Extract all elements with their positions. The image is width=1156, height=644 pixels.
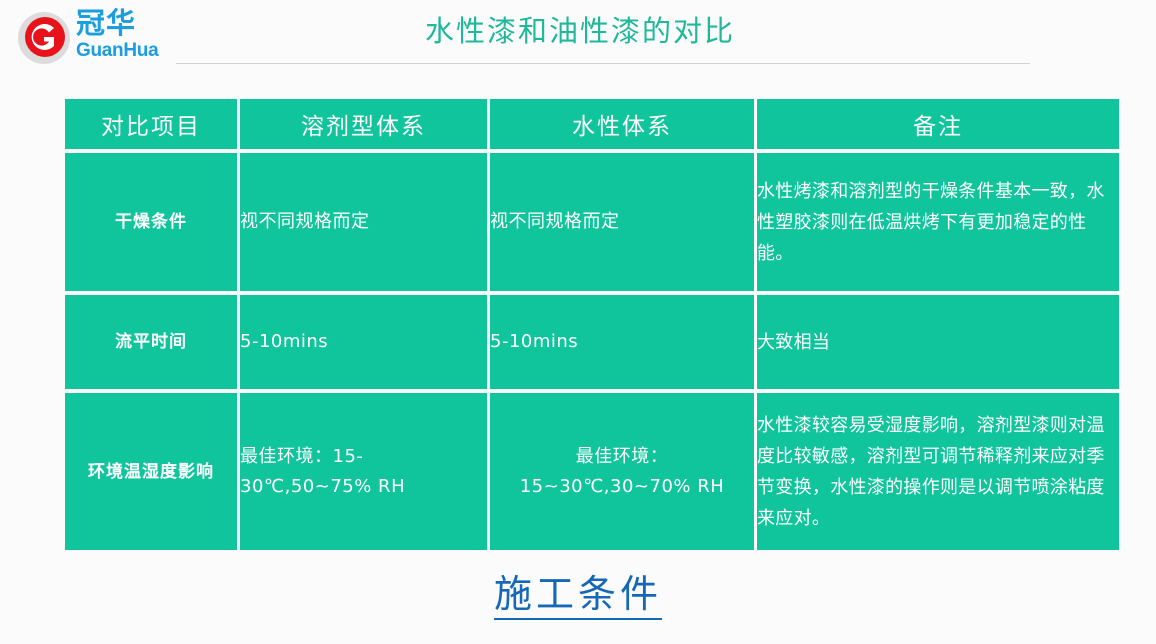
cell-note-environment: 水性漆较容易受湿度影响，溶剂型漆则对温度比较敏感，溶剂型可调节稀释剂来应对季节变… [757, 393, 1119, 550]
cell-note-leveling: 大致相当 [757, 295, 1119, 393]
cell-note-drying: 水性烤漆和溶剂型的干燥条件基本一致，水性塑胶漆则在低温烘烤下有更加稳定的性能。 [757, 153, 1119, 295]
column-header-note: 备注 [757, 99, 1119, 153]
cell-item-leveling: 流平时间 [65, 295, 240, 393]
table-row: 流平时间 5-10mins 5-10mins 大致相当 [65, 295, 1119, 393]
cell-solvent-drying: 视不同规格而定 [240, 153, 490, 295]
brand-name-cn: 冠华 [76, 7, 191, 40]
cell-item-environment: 环境温湿度影响 [65, 393, 240, 550]
header-divider [176, 63, 1030, 64]
page-header: 冠华 GuanHua 水性漆和油性漆的对比 [0, 0, 1156, 85]
cell-solvent-environment: 最佳环境：15-30℃,50~75% RH [240, 393, 490, 550]
cell-waterborne-drying: 视不同规格而定 [490, 153, 757, 295]
column-header-solvent: 溶剂型体系 [240, 99, 490, 153]
brand-logo: 冠华 GuanHua [14, 6, 189, 68]
brand-name-en: GuanHua [76, 40, 191, 62]
cell-waterborne-environment: 最佳环境： 15~30℃,30~70% RH [490, 393, 757, 550]
cell-waterborne-leveling: 5-10mins [490, 295, 757, 393]
guanhua-circle-logo-icon [14, 8, 72, 66]
footer-heading: 施工条件 [0, 568, 1156, 620]
brand-wordmark: 冠华 GuanHua [76, 7, 191, 67]
table-row: 干燥条件 视不同规格而定 视不同规格而定 水性烤漆和溶剂型的干燥条件基本一致，水… [65, 153, 1119, 295]
footer-heading-text: 施工条件 [494, 572, 662, 620]
column-header-item: 对比项目 [65, 99, 240, 153]
column-header-waterborne: 水性体系 [490, 99, 757, 153]
page-title: 水性漆和油性漆的对比 [330, 10, 830, 52]
cell-solvent-leveling: 5-10mins [240, 295, 490, 393]
table-row: 环境温湿度影响 最佳环境：15-30℃,50~75% RH 最佳环境： 15~3… [65, 393, 1119, 550]
table-header-row: 对比项目 溶剂型体系 水性体系 备注 [65, 99, 1119, 153]
comparison-table: 对比项目 溶剂型体系 水性体系 备注 干燥条件 视不同规格而定 视不同规格而定 … [65, 99, 1119, 550]
cell-item-drying: 干燥条件 [65, 153, 240, 295]
